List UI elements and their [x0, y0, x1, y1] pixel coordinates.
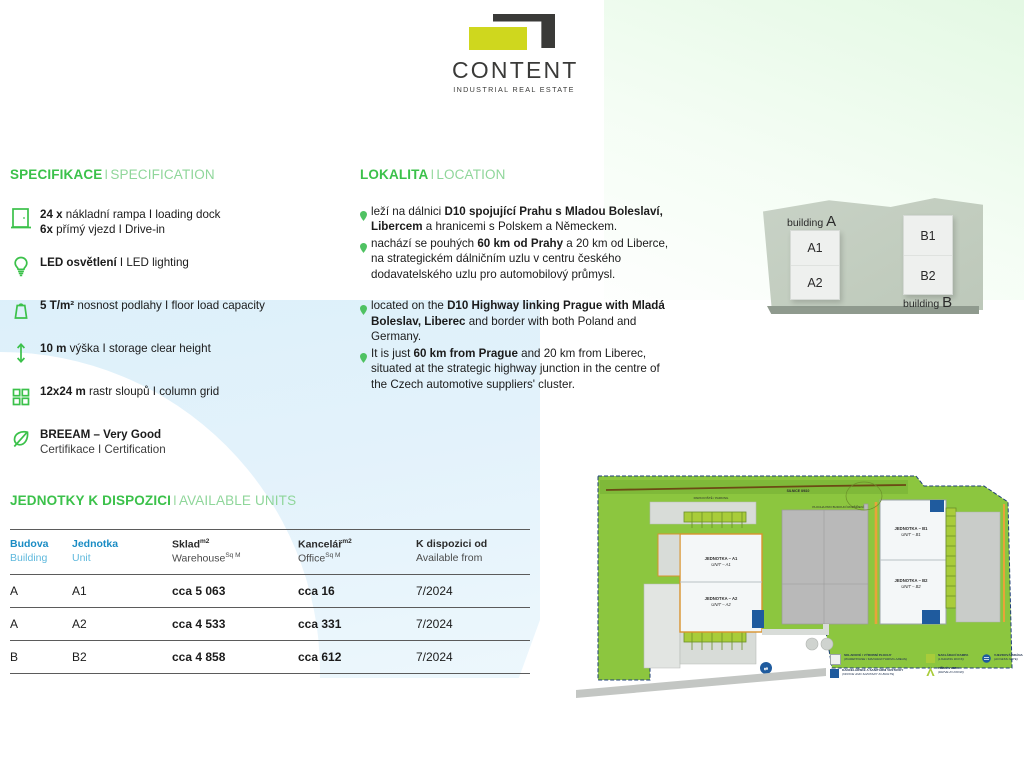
- office-inbuilt-b2: [922, 610, 940, 624]
- plan-unit-b1-cz: JEDNOTKA – B1: [895, 526, 929, 531]
- location-heading-cz: LOKALITA: [360, 167, 428, 182]
- legend-item-drive-in: PŘÍMÝ VJEZD (DRIVE-IN DOOR): [926, 667, 982, 676]
- legend-text-warehouse: SKLADOVÉ / VÝROBNÍ PLOCHY (WAREHOUSE / M…: [844, 654, 907, 662]
- col-header-building-cz: Budova: [10, 538, 72, 552]
- available-units-heading-cz: JEDNOTKY K DISPOZICI: [10, 493, 171, 508]
- cell-warehouse: cca 5 063: [172, 574, 298, 607]
- spec-2-line1-rest: nosnost podlahy I floor load capacity: [74, 299, 265, 312]
- col-header-unit-en: Unit: [72, 552, 172, 566]
- column-grid-icon: [10, 383, 40, 409]
- building-a-footprint[interactable]: [680, 534, 762, 632]
- unit-block-b1[interactable]: B1: [904, 216, 952, 256]
- location-heading: LOKALITAILOCATION: [360, 167, 670, 182]
- unit-block-b2[interactable]: B2: [904, 256, 952, 295]
- plan-annotation-expansion: PLOCHA PRO BUDOUCÍ ROZŠÍŘENÍ: [812, 504, 864, 509]
- legend-swatch-office-icon: [830, 669, 839, 678]
- building-b-footprint[interactable]: [880, 500, 946, 624]
- plan-unit-a2-en: UNIT – A2: [711, 602, 731, 607]
- location-bullet: located on the D10 Highway linking Pragu…: [360, 298, 670, 344]
- building-b-label-letter: B: [942, 294, 952, 311]
- building-b-label-prefix: building: [903, 298, 939, 310]
- legend-text-access-gate: VJEZDOVÁ BRÁNA (ACCESS GATE): [994, 654, 1023, 662]
- col-header-warehouse: Skladm2 WarehouseSq M: [172, 530, 298, 575]
- plan-unit-b1-en: UNIT – B1: [901, 532, 921, 537]
- col-header-available-cz: K dispozici od: [416, 538, 530, 552]
- available-units-section: JEDNOTKY K DISPOZICIIAVAILABLE UNITS Bud…: [10, 493, 530, 674]
- loading-dock-icon: [10, 206, 40, 232]
- cell-available: 7/2024: [416, 640, 530, 673]
- spec-3-line1-bold: 10 m: [40, 342, 66, 355]
- location-bullet: nachází se pouhých 60 km od Prahy a 20 k…: [360, 236, 670, 282]
- light-bulb-icon: [10, 254, 40, 280]
- units-table-header-row: Budova Building Jednotka Unit Skladm2 Wa…: [10, 530, 530, 575]
- spec-item-column-grid-text: 12x24 m rastr sloupů I column grid: [40, 383, 219, 399]
- specification-heading-en: SPECIFICATION: [110, 167, 214, 182]
- legend-text-office: KANCELÁŘSKÉ A SANITÁRNÍ VESTAVKY (OFFICE…: [842, 669, 903, 677]
- legend-swatch-warehouse-icon: [830, 654, 841, 665]
- legend-text-drive-in: PŘÍMÝ VJEZD (DRIVE-IN DOOR): [938, 667, 964, 675]
- legend-loading-dock-en: (LOADING DOCK): [938, 658, 968, 662]
- legend-item-warehouse: SKLADOVÉ / VÝROBNÍ PLOCHY (WAREHOUSE / M…: [830, 654, 922, 665]
- plan-unit-a1-en: UNIT – A1: [711, 562, 730, 567]
- col-header-office-en-unit: Sq M: [325, 552, 340, 559]
- building-b-block[interactable]: B1 B2: [903, 215, 953, 295]
- legend-swatch-drive-in-icon: [926, 667, 935, 676]
- parking-west: [644, 584, 680, 668]
- building-a-label-letter: A: [826, 213, 836, 230]
- units-table-body: A A1 cca 5 063 cca 16 7/2024 A A2 cca 4 …: [10, 574, 530, 673]
- future-expansion-area: [782, 504, 868, 624]
- specification-section: SPECIFIKACEISPECIFICATION 24 x nákladní …: [10, 167, 340, 473]
- spec-5-line1-bold: BREEAM – Very Good: [40, 428, 161, 441]
- cell-building: A: [10, 607, 72, 640]
- location-group-cs: leží na dálnici D10 spojující Prahu s Ml…: [360, 204, 670, 282]
- legend-access-gate-en: (ACCESS GATE): [994, 658, 1023, 662]
- spec-1-line1-bold: LED osvětlení: [40, 256, 117, 269]
- location-body: leží na dálnici D10 spojující Prahu s Ml…: [360, 204, 670, 392]
- brand-logo: CONTENT INDUSTRIAL REAL ESTATE: [452, 14, 576, 94]
- map-pin-icon: [360, 236, 371, 258]
- spec-item-led-lighting-text: LED osvětlení I LED lighting: [40, 254, 189, 270]
- location-bullet-text-1: nachází se pouhých 60 km od Prahy a 20 k…: [371, 236, 670, 282]
- location-bullet: It is just 60 km from Prague and 20 km f…: [360, 346, 670, 392]
- col-header-available: K dispozici od Available from: [416, 530, 530, 575]
- spec-item-clear-height: 10 m výška I storage clear height: [10, 340, 340, 366]
- roundabout: [821, 638, 833, 650]
- map-pin-icon: [360, 204, 371, 226]
- legend-text-loading-dock: NAKLÁDACÍ RAMPA (LOADING DOCK): [938, 654, 968, 662]
- legend-office-en: (OFFICE AND SANITARY IN-BUILTS): [842, 673, 903, 677]
- building-a-block[interactable]: A1 A2: [790, 230, 840, 300]
- unit-block-a2[interactable]: A2: [791, 266, 839, 300]
- cell-building: B: [10, 640, 72, 673]
- cell-unit: B2: [72, 640, 172, 673]
- legend-item-office: KANCELÁŘSKÉ A SANITÁRNÍ VESTAVKY (OFFICE…: [830, 669, 922, 678]
- legend-warehouse-en: (WAREHOUSE / MANUFACTURING AREAS): [844, 658, 907, 662]
- spec-item-clear-height-text: 10 m výška I storage clear height: [40, 340, 211, 356]
- legend-item-access-gate: VJEZDOVÁ BRÁNA (ACCESS GATE): [982, 654, 1024, 663]
- plan-unit-b2-cz: JEDNOTKA – B2: [895, 578, 929, 583]
- col-header-office: Kancelářm2 OfficeSq M: [298, 530, 416, 575]
- col-header-office-en: OfficeSq M: [298, 552, 416, 566]
- building-overview-diagram: building A A1 A2 B1 B2 building B: [755, 190, 990, 325]
- location-bullet-text-0: leží na dálnici D10 spojující Prahu s Ml…: [371, 204, 670, 235]
- location-bullet-text-2: located on the D10 Highway linking Pragu…: [371, 298, 670, 344]
- table-row[interactable]: A A1 cca 5 063 cca 16 7/2024: [10, 574, 530, 607]
- spec-0-line1-rest: nákladní rampa I loading dock: [63, 208, 221, 221]
- spec-item-floor-load-text: 5 T/m² nosnost podlahy I floor load capa…: [40, 297, 265, 313]
- spec-item-column-grid: 12x24 m rastr sloupů I column grid: [10, 383, 340, 409]
- location-section: LOKALITAILOCATION leží na dálnici D10 sp…: [360, 167, 670, 408]
- site-plan-map[interactable]: JEDNOTKA – A1 UNIT – A1 JEDNOTKA – A2 UN…: [576, 472, 1020, 698]
- building-a-annex: [658, 534, 680, 576]
- cell-building: A: [10, 574, 72, 607]
- logo-mark-icon: [469, 14, 559, 54]
- available-units-heading: JEDNOTKY K DISPOZICIIAVAILABLE UNITS: [10, 493, 530, 508]
- map-pin-icon: [360, 298, 371, 320]
- office-inbuilt-a2: [752, 610, 764, 628]
- cell-warehouse: cca 4 858: [172, 640, 298, 673]
- legend-column-3: VJEZDOVÁ BRÁNA (ACCESS GATE): [982, 654, 1024, 667]
- col-header-building: Budova Building: [10, 530, 72, 575]
- legend-swatch-loading-dock-icon: [926, 654, 935, 663]
- specification-heading-cz: SPECIFIKACE: [10, 167, 102, 182]
- spec-item-loading-dock: 24 x nákladní rampa I loading dock 6x př…: [10, 206, 340, 238]
- plan-unit-a1-cz: JEDNOTKA – A1: [705, 556, 738, 561]
- col-header-warehouse-cz-unit: m2: [200, 538, 209, 545]
- available-units-heading-en: AVAILABLE UNITS: [179, 493, 296, 508]
- cell-unit: A2: [72, 607, 172, 640]
- cell-office: cca 16: [298, 574, 416, 607]
- units-table-head: Budova Building Jednotka Unit Skladm2 Wa…: [10, 530, 530, 575]
- legend-column-2: NAKLÁDACÍ RAMPA (LOADING DOCK) PŘÍMÝ VJE…: [926, 654, 982, 680]
- col-header-warehouse-en: WarehouseSq M: [172, 552, 298, 566]
- available-units-table: Budova Building Jednotka Unit Skladm2 Wa…: [10, 529, 530, 674]
- map-pin-icon: [360, 346, 371, 368]
- logo-yellow-shape: [469, 27, 527, 50]
- legend-column-1: SKLADOVÉ / VÝROBNÍ PLOCHY (WAREHOUSE / M…: [830, 654, 922, 682]
- spec-3-line1-rest: výška I storage clear height: [66, 342, 210, 355]
- spec-1-line1-rest: I LED lighting: [117, 256, 189, 269]
- col-header-available-en: Available from: [416, 552, 530, 566]
- plan-unit-a2-cz: JEDNOTKA – A2: [705, 596, 738, 601]
- col-header-warehouse-en-unit: Sq M: [225, 552, 240, 559]
- location-heading-en: LOCATION: [436, 167, 505, 182]
- col-header-unit: Jednotka Unit: [72, 530, 172, 575]
- spec-2-line1-bold: 5 T/m²: [40, 299, 74, 312]
- spec-5-line2-rest: Certifikace I Certification: [40, 443, 166, 456]
- col-header-unit-cz: Jednotka: [72, 538, 172, 552]
- plan-annotation-parking: PARKOVIŠTĚ / PARKING: [694, 495, 729, 500]
- spec-item-breeam: BREEAM – Very Good Certifikace I Certifi…: [10, 426, 340, 458]
- spec-item-breeam-text: BREEAM – Very Good Certifikace I Certifi…: [40, 426, 166, 458]
- location-group-en: located on the D10 Highway linking Pragu…: [360, 298, 670, 392]
- spec-0-line2-bold: 6x: [40, 223, 53, 236]
- spec-4-line1-bold: 12x24 m: [40, 385, 86, 398]
- spec-0-line2-rest: přímý vjezd I Drive-in: [53, 223, 165, 236]
- logo-wordmark: CONTENT: [452, 58, 576, 82]
- logo-tagline: INDUSTRIAL REAL ESTATE: [452, 85, 576, 94]
- unit-block-a1[interactable]: A1: [791, 231, 839, 266]
- building-a-label: building A: [787, 213, 836, 230]
- plan-annotation-railway: SILNICE II/610: [787, 489, 810, 493]
- leaf-breeam-icon: [10, 426, 40, 452]
- cell-office: cca 612: [298, 640, 416, 673]
- spec-item-loading-dock-text: 24 x nákladní rampa I loading dock 6x př…: [40, 206, 220, 238]
- roundabout: [806, 638, 818, 650]
- clear-height-arrow-icon: [10, 340, 40, 366]
- legend-item-loading-dock: NAKLÁDACÍ RAMPA (LOADING DOCK): [926, 654, 982, 663]
- cell-available: 7/2024: [416, 607, 530, 640]
- legend-swatch-access-gate-icon: [982, 654, 991, 663]
- cell-warehouse: cca 4 533: [172, 607, 298, 640]
- table-row[interactable]: A A2 cca 4 533 cca 331 7/2024: [10, 607, 530, 640]
- table-row[interactable]: B B2 cca 4 858 cca 612 7/2024: [10, 640, 530, 673]
- available-units-heading-separator: I: [171, 493, 179, 508]
- specification-list: 24 x nákladní rampa I loading dock 6x př…: [10, 206, 340, 457]
- specification-heading: SPECIFIKACEISPECIFICATION: [10, 167, 340, 182]
- cell-office: cca 331: [298, 607, 416, 640]
- spec-item-led-lighting: LED osvětlení I LED lighting: [10, 254, 340, 280]
- spec-4-line1-rest: rastr sloupů I column grid: [86, 385, 219, 398]
- col-header-office-cz: Kancelářm2: [298, 538, 416, 552]
- building-b-label: building B: [903, 294, 952, 311]
- cell-available: 7/2024: [416, 574, 530, 607]
- plan-unit-b2-en: UNIT – B2: [901, 584, 921, 589]
- location-bullet: leží na dálnici D10 spojující Prahu s Ml…: [360, 204, 670, 235]
- building-a-label-prefix: building: [787, 217, 823, 229]
- col-header-building-en: Building: [10, 552, 72, 566]
- location-bullet-text-3: It is just 60 km from Prague and 20 km f…: [371, 346, 670, 392]
- col-header-office-cz-unit: m2: [342, 538, 351, 545]
- parking-east: [956, 512, 1000, 622]
- spec-0-line1-bold: 24 x: [40, 208, 63, 221]
- floor-load-weight-icon: [10, 297, 40, 323]
- col-header-warehouse-cz: Skladm2: [172, 538, 298, 552]
- cell-unit: A1: [72, 574, 172, 607]
- spec-item-floor-load: 5 T/m² nosnost podlahy I floor load capa…: [10, 297, 340, 323]
- legend-drive-in-en: (DRIVE-IN DOOR): [938, 671, 964, 675]
- office-inbuilt-b1: [930, 500, 944, 512]
